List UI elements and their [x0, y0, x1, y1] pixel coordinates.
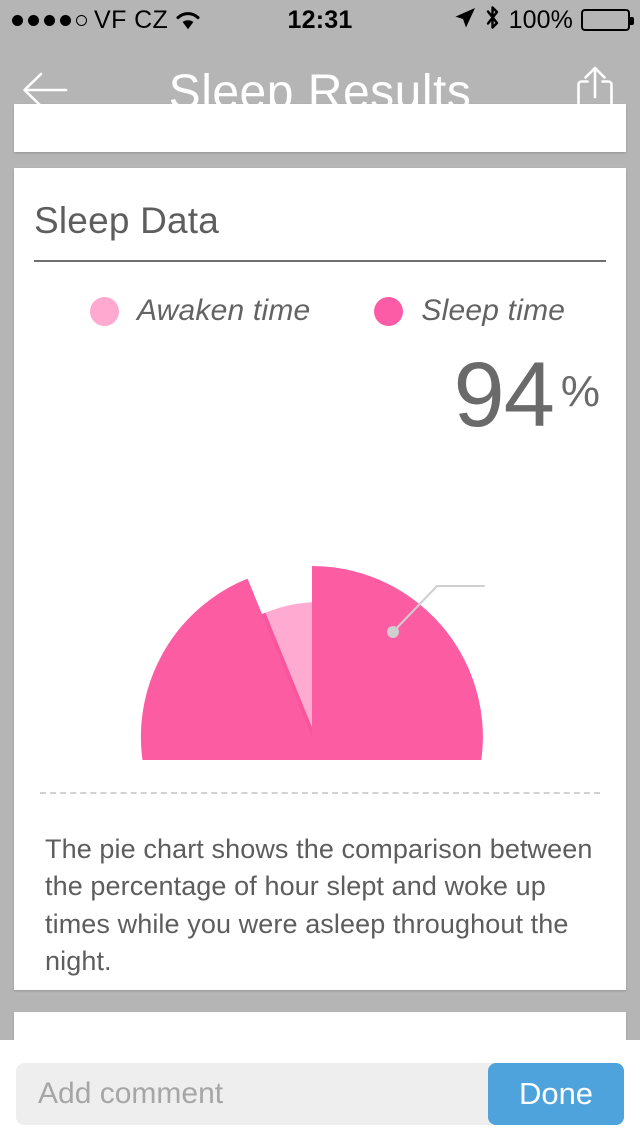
legend-item-awaken: Awaken time: [90, 294, 310, 328]
legend-label-awaken: Awaken time: [137, 294, 310, 328]
comment-bar: Done: [0, 1040, 640, 1136]
chart-description: The pie chart shows the comparison betwe…: [45, 831, 601, 980]
legend-item-sleep: Sleep time: [374, 294, 565, 328]
legend-label-sleep: Sleep time: [421, 294, 565, 328]
pie-chart: 94 %: [14, 340, 626, 760]
battery-percent-label: 100%: [509, 6, 573, 35]
percentage-value: 94: [454, 352, 554, 439]
percentage-callout: 94 %: [454, 352, 600, 439]
legend-dot-awaken: [90, 297, 119, 326]
battery-full-icon: [581, 9, 630, 31]
clock-label: 12:31: [288, 6, 353, 35]
bluetooth-icon: [484, 5, 501, 35]
done-button[interactable]: Done: [488, 1063, 624, 1125]
status-bar: VF CZ 12:31 100%: [0, 0, 640, 40]
card-title: Sleep Data: [34, 200, 219, 242]
location-arrow-icon: [454, 7, 476, 34]
legend-dot-sleep: [374, 297, 403, 326]
sleep-data-card: Sleep Data Awaken time Sleep time: [14, 168, 626, 990]
callout-anchor-dot: [387, 626, 399, 638]
chart-legend: Awaken time Sleep time: [14, 294, 626, 328]
percent-sign: %: [561, 370, 600, 414]
dashed-divider: [40, 792, 600, 794]
status-bar-right: 100%: [454, 0, 630, 40]
app-screen: VF CZ 12:31 100%: [0, 0, 640, 1136]
card-above-partial: [14, 104, 626, 152]
title-divider: [34, 260, 606, 262]
